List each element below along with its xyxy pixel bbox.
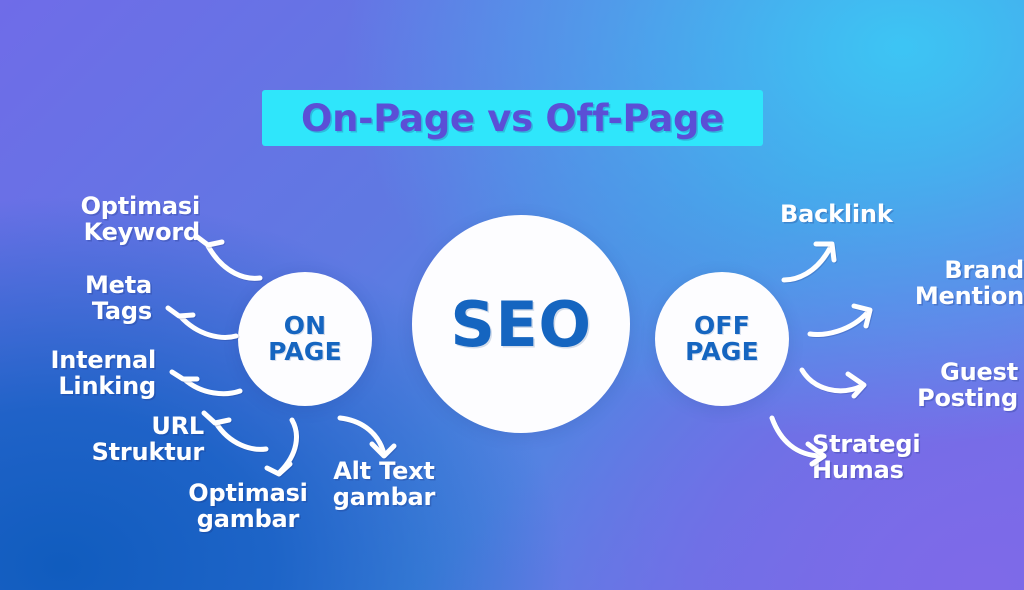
arrow-to-alt-text-gambar (336, 414, 398, 462)
arrow-to-internal-linking (166, 363, 242, 399)
label-meta-tags: Meta Tags (0, 273, 152, 325)
node-on-page-label-line1: ON (284, 313, 327, 340)
label-guest-posting: Guest Posting (848, 360, 1018, 412)
center-node-label: SEO (450, 288, 591, 361)
label-optimasi-keyword: Optimasi Keyword (0, 194, 200, 246)
label-optimasi-gambar: Optimasi gambar (168, 481, 328, 533)
node-off-page: OFF PAGE (655, 272, 789, 406)
node-on-page: ON PAGE (238, 272, 372, 406)
page-title: On-Page vs Off-Page (301, 97, 724, 140)
label-url-struktur: URL Struktur (0, 414, 204, 466)
label-strategi-humas: Strategi Humas (812, 432, 964, 484)
node-on-page-label-line2: PAGE (268, 339, 342, 366)
arrow-to-backlink (782, 238, 848, 286)
arrow-to-optimasi-gambar (256, 418, 306, 480)
seo-infographic: On-Page vs Off-Page SEO ON PAGE OFF PAGE… (0, 0, 1024, 590)
label-brand-mention: Brand Mention (842, 258, 1024, 310)
label-alt-text-gambar: Alt Text gambar (322, 459, 446, 511)
label-internal-linking: Internal Linking (0, 348, 156, 400)
arrow-to-url-struktur (196, 407, 268, 455)
center-node-seo: SEO (412, 215, 630, 433)
label-backlink: Backlink (780, 202, 930, 228)
node-off-page-label-line2: PAGE (685, 339, 759, 366)
title-banner: On-Page vs Off-Page (262, 90, 763, 146)
arrow-to-meta-tags (160, 300, 238, 342)
node-off-page-label-line1: OFF (694, 313, 750, 340)
